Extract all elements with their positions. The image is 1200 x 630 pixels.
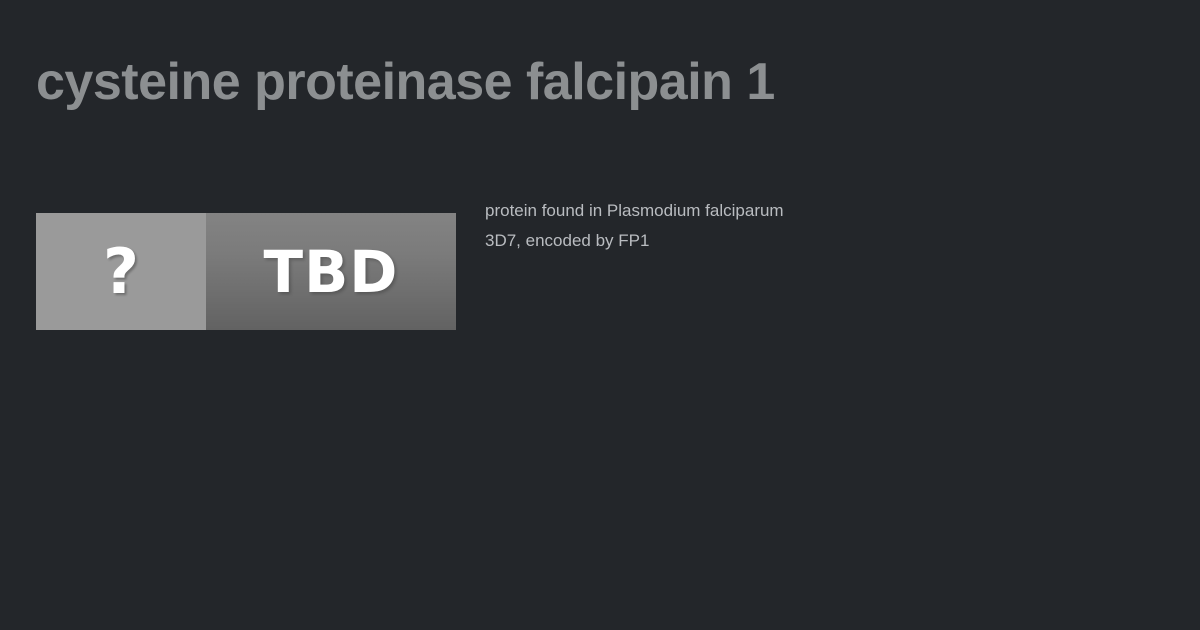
entity-summary-row: ? TBD protein found in Plasmodium falcip…: [36, 213, 1166, 330]
placeholder-question-panel: ?: [36, 213, 206, 330]
placeholder-tbd-panel: TBD: [206, 213, 456, 330]
placeholder-image: ? TBD: [36, 213, 456, 330]
page-title: cysteine proteinase falcipain 1: [36, 52, 796, 112]
entity-preview-card: cysteine proteinase falcipain 1 ? TBD pr…: [0, 0, 1200, 630]
question-mark-icon: ?: [103, 241, 139, 303]
tbd-label: TBD: [264, 243, 399, 301]
entity-description: protein found in Plasmodium falciparum 3…: [485, 196, 815, 256]
